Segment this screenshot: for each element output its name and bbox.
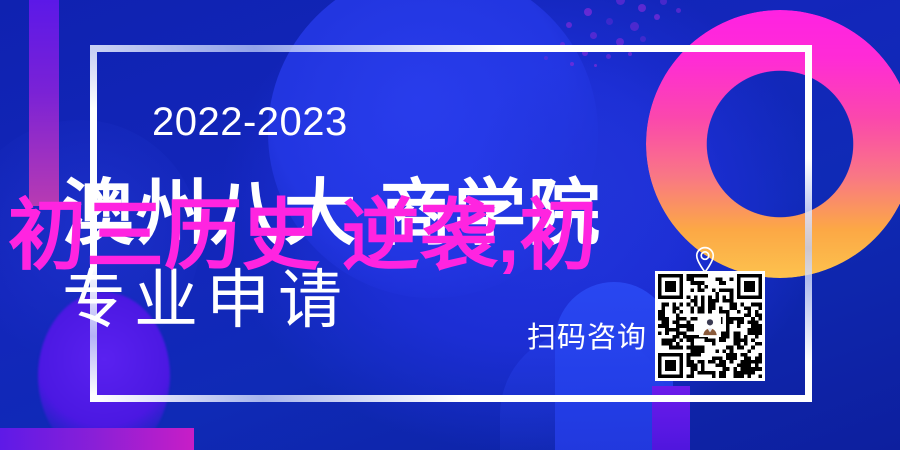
decor-bar-bottom-horizontal xyxy=(0,428,194,450)
qr-code-block[interactable] xyxy=(655,271,765,381)
year-range-label: 2022-2023 xyxy=(152,100,348,145)
scan-qr-label: 扫码咨询 xyxy=(527,314,647,356)
overlay-watermark-text: 初三历史 逆袭,初 xyxy=(8,196,597,274)
poster-canvas: 2022-2023 澳州八大 商学院 专业申请 初三历史 逆袭,初 扫码咨询 xyxy=(0,0,900,450)
location-pin-icon xyxy=(694,246,716,274)
decor-bar-left-vertical xyxy=(29,0,59,206)
avatar xyxy=(699,315,721,337)
